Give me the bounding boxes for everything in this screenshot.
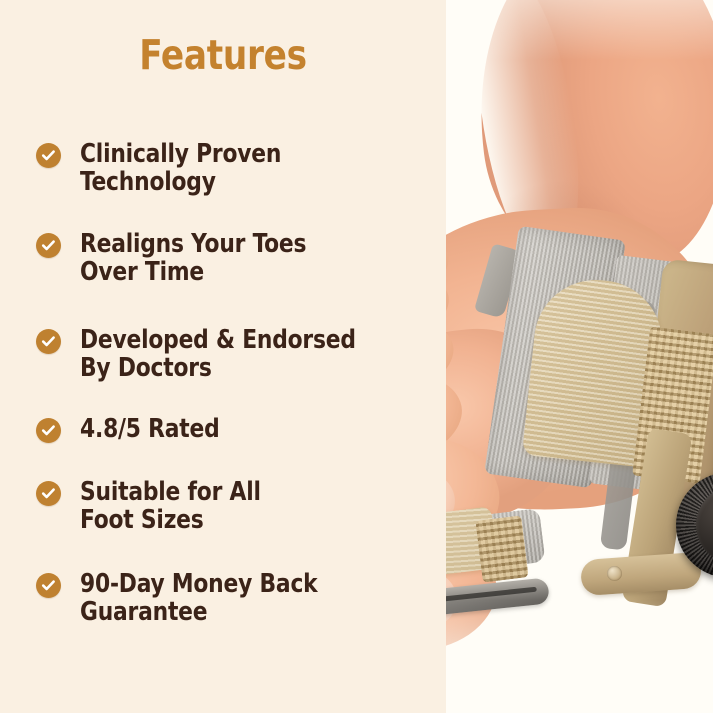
feature-label: Clinically Proven Technology bbox=[80, 140, 281, 197]
check-circle-icon bbox=[36, 329, 61, 354]
feature-label: Developed & Endorsed By Doctors bbox=[80, 326, 356, 383]
check-circle-icon bbox=[36, 233, 61, 258]
photo-fade-bottom bbox=[443, 600, 713, 713]
feature-item-money-back-guarantee: 90-Day Money Back Guarantee bbox=[36, 570, 330, 627]
check-circle-icon bbox=[36, 573, 61, 598]
feature-item-realigns-toes: Realigns Your Toes Over Time bbox=[36, 230, 318, 287]
splint-hinge-rivet bbox=[607, 566, 622, 581]
page-title: Features bbox=[16, 34, 431, 77]
features-panel: Features Clinically Proven Technology Re… bbox=[0, 0, 446, 713]
product-photo-content: ⡄ bbox=[443, 0, 713, 713]
product-photo: ⡄ bbox=[443, 0, 713, 713]
feature-label: 90-Day Money Back Guarantee bbox=[80, 570, 317, 627]
toe-velcro-hook-strip bbox=[475, 515, 528, 582]
check-circle-icon bbox=[36, 143, 61, 168]
feature-label: 4.8/5 Rated bbox=[80, 415, 220, 443]
check-circle-icon bbox=[36, 418, 61, 443]
feature-item-rating: 4.8/5 Rated bbox=[36, 415, 227, 443]
feature-graphic: ⡄ Features Clinically Proven Technology bbox=[0, 0, 713, 713]
splint-hinge-arm bbox=[580, 552, 702, 596]
feature-item-suitable-all-sizes: Suitable for All Foot Sizes bbox=[36, 478, 270, 535]
feature-item-clinically-proven: Clinically Proven Technology bbox=[36, 140, 292, 197]
feature-label: Suitable for All Foot Sizes bbox=[80, 478, 261, 535]
feature-item-developed-endorsed: Developed & Endorsed By Doctors bbox=[36, 326, 370, 383]
check-circle-icon bbox=[36, 481, 61, 506]
photo-fade-top bbox=[443, 0, 713, 60]
feature-label: Realigns Your Toes Over Time bbox=[80, 230, 306, 287]
